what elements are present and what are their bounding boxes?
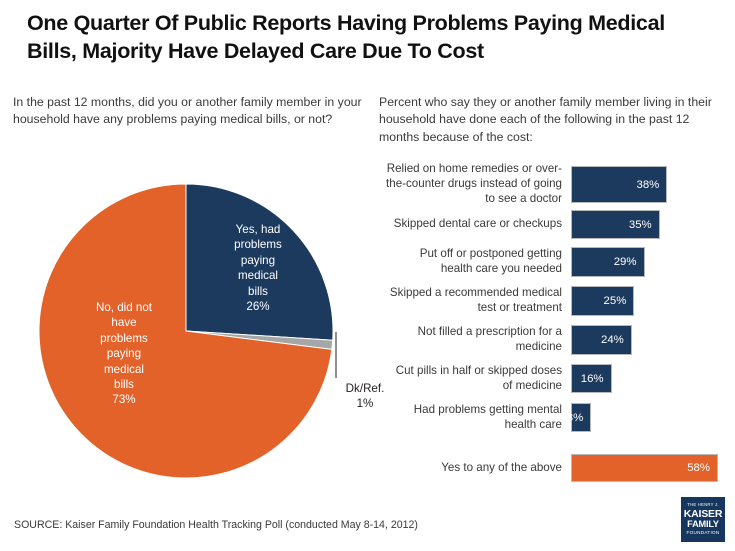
bar-category-line: of medicine (379, 379, 562, 394)
bar-category-line: Relied on home remedies or over- (379, 162, 562, 177)
bar-row: Cut pills in half or skipped dosesof med… (379, 364, 724, 393)
bar-category-line: test or treatment (379, 301, 562, 316)
bar-rect[interactable]: 38% (571, 166, 667, 203)
left-question-text: In the past 12 months, did you or anothe… (13, 94, 363, 129)
bar-value-label: 38% (636, 179, 666, 191)
bar-row: Yes to any of the above58% (379, 454, 724, 482)
bar-value-label: 24% (601, 334, 631, 346)
bar-track: 24% (571, 325, 724, 355)
bar-category-line: Yes to any of the above (379, 461, 562, 476)
bar-value-label: 35% (629, 219, 659, 231)
bar-value-label: 8% (567, 412, 590, 424)
bar-category-line: medicine (379, 340, 562, 355)
bar-track: 16% (571, 364, 724, 393)
bar-category-label: Not filled a prescription for amedicine (379, 325, 571, 354)
bar-rect[interactable]: 29% (571, 247, 645, 277)
bar-rect[interactable]: 35% (571, 210, 660, 239)
bar-category-line: Not filled a prescription for a (379, 325, 562, 340)
pie-chart (38, 183, 334, 479)
bar-category-line: Had problems getting mental (379, 403, 562, 418)
bar-value-label: 58% (687, 462, 717, 474)
bar-row: Had problems getting mentalhealth care8% (379, 403, 724, 432)
bar-category-label: Skipped dental care or checkups (379, 217, 571, 232)
bar-value-label: 25% (604, 295, 634, 307)
bar-track: 25% (571, 286, 724, 316)
logo-line-4: FOUNDATION (686, 531, 719, 536)
bar-category-line: the-counter drugs instead of going (379, 177, 562, 192)
bar-row: Skipped dental care or checkups35% (379, 210, 724, 239)
bar-category-line: Skipped a recommended medical (379, 286, 562, 301)
bar-category-label: Put off or postponed gettinghealth care … (379, 247, 571, 276)
bar-category-line: Cut pills in half or skipped doses (379, 364, 562, 379)
bar-track: 58% (571, 454, 724, 482)
bar-rect[interactable]: 24% (571, 325, 632, 355)
bar-track: 8% (571, 403, 724, 432)
bar-rect[interactable]: 8% (571, 403, 591, 432)
bar-rect[interactable]: 25% (571, 286, 634, 316)
bar-row: Put off or postponed gettinghealth care … (379, 247, 724, 277)
bar-value-label: 16% (581, 373, 611, 385)
bar-category-label: Relied on home remedies or over-the-coun… (379, 162, 571, 206)
bar-category-label: Had problems getting mentalhealth care (379, 403, 571, 432)
pie-slice (186, 184, 333, 340)
bar-value-label: 29% (614, 256, 644, 268)
bar-rect[interactable]: 16% (571, 364, 612, 393)
chart-page: One Quarter Of Public Reports Having Pro… (0, 0, 735, 551)
bar-rect[interactable]: 58% (571, 454, 718, 482)
logo-line-2: KAISER (684, 509, 722, 520)
bar-category-label: Yes to any of the above (379, 461, 571, 476)
kff-logo: THE HENRY J. KAISER FAMILY FOUNDATION (681, 497, 725, 542)
pie-chart-svg (38, 183, 334, 479)
bar-category-line: Skipped dental care or checkups (379, 217, 562, 232)
bar-category-line: health care you needed (379, 262, 562, 277)
bar-row: Skipped a recommended medicaltest or tre… (379, 286, 724, 316)
source-note: SOURCE: Kaiser Family Foundation Health … (14, 519, 418, 531)
bar-category-line: to see a doctor (379, 192, 562, 207)
bar-track: 29% (571, 247, 724, 277)
bar-chart: Relied on home remedies or over-the-coun… (379, 166, 724, 486)
bar-row: Relied on home remedies or over-the-coun… (379, 166, 724, 203)
bar-track: 35% (571, 210, 724, 239)
logo-line-1: THE HENRY J. (687, 503, 718, 507)
page-title: One Quarter Of Public Reports Having Pro… (27, 9, 717, 66)
logo-line-3: FAMILY (687, 520, 719, 529)
bar-category-label: Cut pills in half or skipped dosesof med… (379, 364, 571, 393)
bar-track: 38% (571, 166, 724, 203)
right-question-text: Percent who say they or another family m… (379, 94, 724, 146)
bar-category-line: health care (379, 418, 562, 433)
bar-row: Not filled a prescription for amedicine2… (379, 325, 724, 355)
bar-category-line: Put off or postponed getting (379, 247, 562, 262)
bar-category-label: Skipped a recommended medicaltest or tre… (379, 286, 571, 315)
